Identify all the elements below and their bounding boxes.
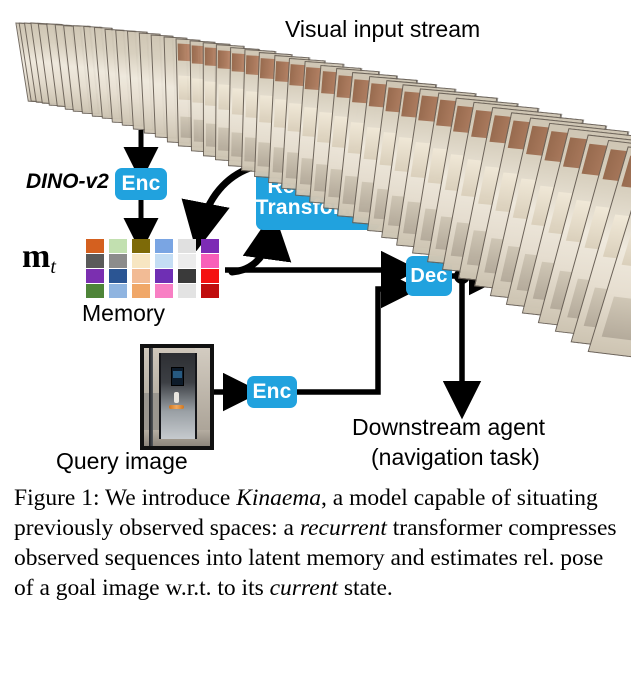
caption-emph-kinaema: Kinaema <box>236 485 321 511</box>
query-encoder-box[interactable]: Enc <box>247 376 297 408</box>
memory-cell <box>201 254 219 268</box>
memory-cell <box>86 239 104 253</box>
query-image-screen <box>171 367 185 386</box>
memory-cell <box>86 269 104 283</box>
memory-symbol-sub: t <box>50 256 56 278</box>
encoder-box-label: Enc <box>121 173 160 194</box>
memory-symbol: mt <box>22 238 56 279</box>
memory-cell <box>155 269 173 283</box>
arrow-transformer-to-memory <box>200 168 250 232</box>
memory-cell <box>201 239 219 253</box>
caption-block: Figure 1: We introduce Kinaema, a model … <box>0 484 631 689</box>
memory-column <box>109 239 127 298</box>
downstream-agent-label-line2: (navigation task) <box>371 444 540 471</box>
memory-cell <box>178 269 196 283</box>
memory-column <box>132 239 150 298</box>
figure-caption: Figure 1: We introduce Kinaema, a model … <box>0 484 631 603</box>
memory-cell <box>132 269 150 283</box>
caption-prefix: Figure 1: We introduce <box>14 485 236 511</box>
memory-column <box>201 239 219 298</box>
memory-cell <box>201 269 219 283</box>
memory-column <box>178 239 196 298</box>
memory-cell <box>86 284 104 298</box>
encoder-model-label: DINO-v2 <box>26 170 109 194</box>
memory-cell <box>178 254 196 268</box>
memory-cell <box>201 284 219 298</box>
query-encoder-box-label: Enc <box>252 381 291 402</box>
encoder-box[interactable]: Enc <box>115 168 167 200</box>
caption-suffix: state. <box>338 575 393 601</box>
memory-cell <box>178 284 196 298</box>
memory-cell <box>178 239 196 253</box>
figure-panel: Visual input stream DINO-v2 Enc Recurren… <box>0 0 631 480</box>
memory-grid <box>86 239 219 298</box>
caption-emph-current: current <box>270 575 338 601</box>
memory-cell <box>155 239 173 253</box>
memory-cell <box>132 284 150 298</box>
memory-cell <box>155 254 173 268</box>
memory-cell <box>132 239 150 253</box>
stream-label: Visual input stream <box>285 16 480 43</box>
memory-symbol-base: m <box>22 238 50 275</box>
query-image-door-edge <box>149 348 152 446</box>
memory-cell <box>109 254 127 268</box>
memory-cell <box>86 254 104 268</box>
memory-cell <box>109 269 127 283</box>
query-image-machine <box>159 353 197 439</box>
query-image <box>140 344 214 450</box>
caption-emph-recurrent: recurrent <box>300 515 387 541</box>
memory-column <box>155 239 173 298</box>
arrow-memory-to-transformer <box>232 230 271 272</box>
memory-label: Memory <box>82 300 165 327</box>
memory-cell <box>109 239 127 253</box>
query-image-leds <box>169 405 183 409</box>
query-image-label: Query image <box>56 448 188 475</box>
memory-cell <box>132 254 150 268</box>
memory-cell <box>155 284 173 298</box>
arrow-query-encoder-to-decoder <box>294 289 404 392</box>
downstream-agent-label-line1: Downstream agent <box>352 414 545 441</box>
query-image-cup <box>174 392 178 403</box>
memory-cell <box>109 284 127 298</box>
memory-column <box>86 239 104 298</box>
